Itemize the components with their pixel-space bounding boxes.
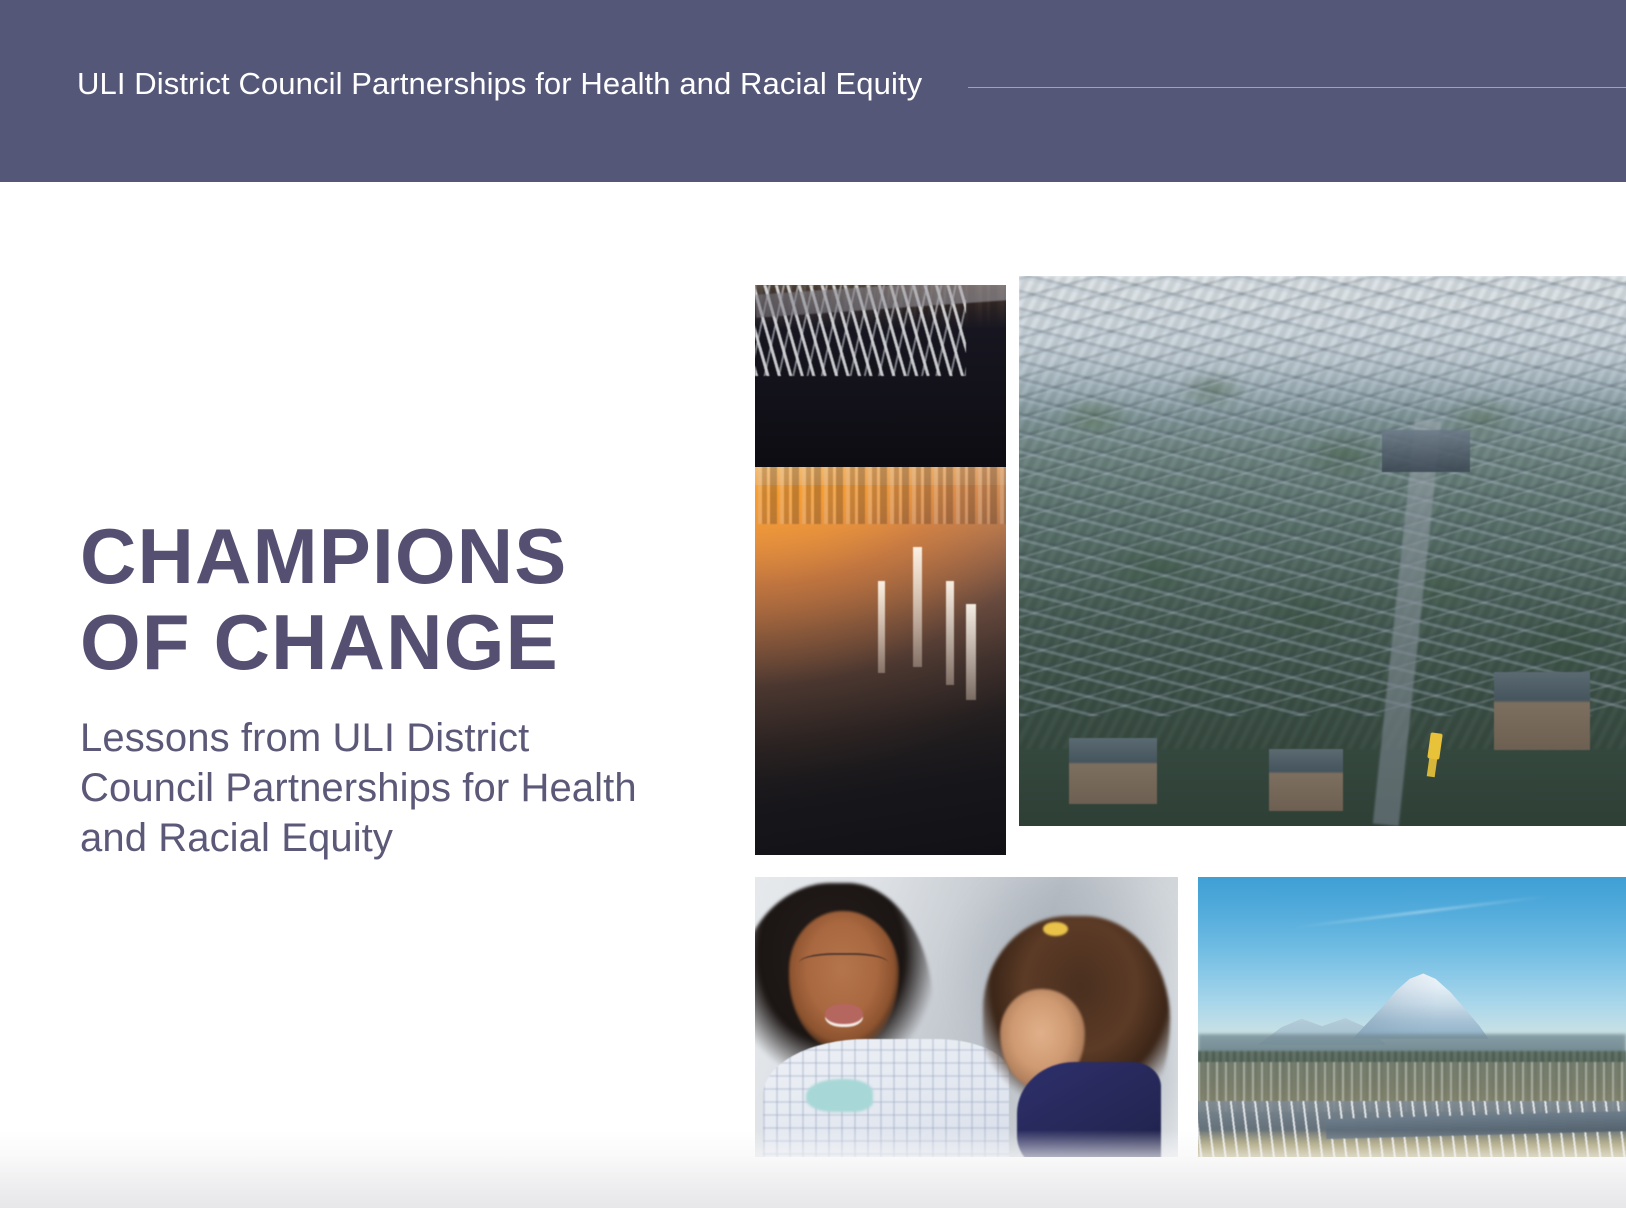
large-house [1494, 672, 1590, 750]
highrise-tower [946, 581, 954, 685]
girl-hair-bow [1043, 922, 1068, 936]
highrise-tower [878, 581, 885, 673]
photo-aerial-residential-neighborhood [1019, 276, 1626, 826]
apartment-block [1382, 430, 1470, 472]
eyeglasses-icon [799, 953, 888, 977]
photo-aerial-sunset-city [755, 285, 1006, 855]
woman-teal-collar [806, 1079, 874, 1113]
page-header-bar: ULI District Council Partnerships for He… [0, 0, 1626, 182]
large-house [1069, 738, 1157, 804]
photo-mount-rainier-over-city [1198, 877, 1626, 1157]
woman-smile [825, 1004, 863, 1026]
header-divider-rule [968, 87, 1626, 88]
girl-navy-top [1017, 1062, 1161, 1157]
photo-woman-hugging-girl [755, 877, 1178, 1157]
page-header-title: ULI District Council Partnerships for He… [77, 64, 922, 104]
highrise-tower [966, 604, 976, 700]
cover-subtitle: Lessons from ULI District Council Partne… [80, 713, 640, 863]
cover-title-line-2: OF CHANGE [80, 599, 700, 685]
cover-title-line-1: CHAMPIONS [80, 513, 700, 599]
large-house [1269, 749, 1343, 811]
cover-title: CHAMPIONS OF CHANGE [80, 513, 700, 685]
woman-plaid-shirt [763, 1039, 1008, 1157]
document-page: ULI District Council Partnerships for He… [0, 0, 1626, 1208]
woman-face [789, 911, 899, 1051]
highrise-tower [913, 547, 922, 667]
rooftops-layer [1019, 276, 1626, 716]
